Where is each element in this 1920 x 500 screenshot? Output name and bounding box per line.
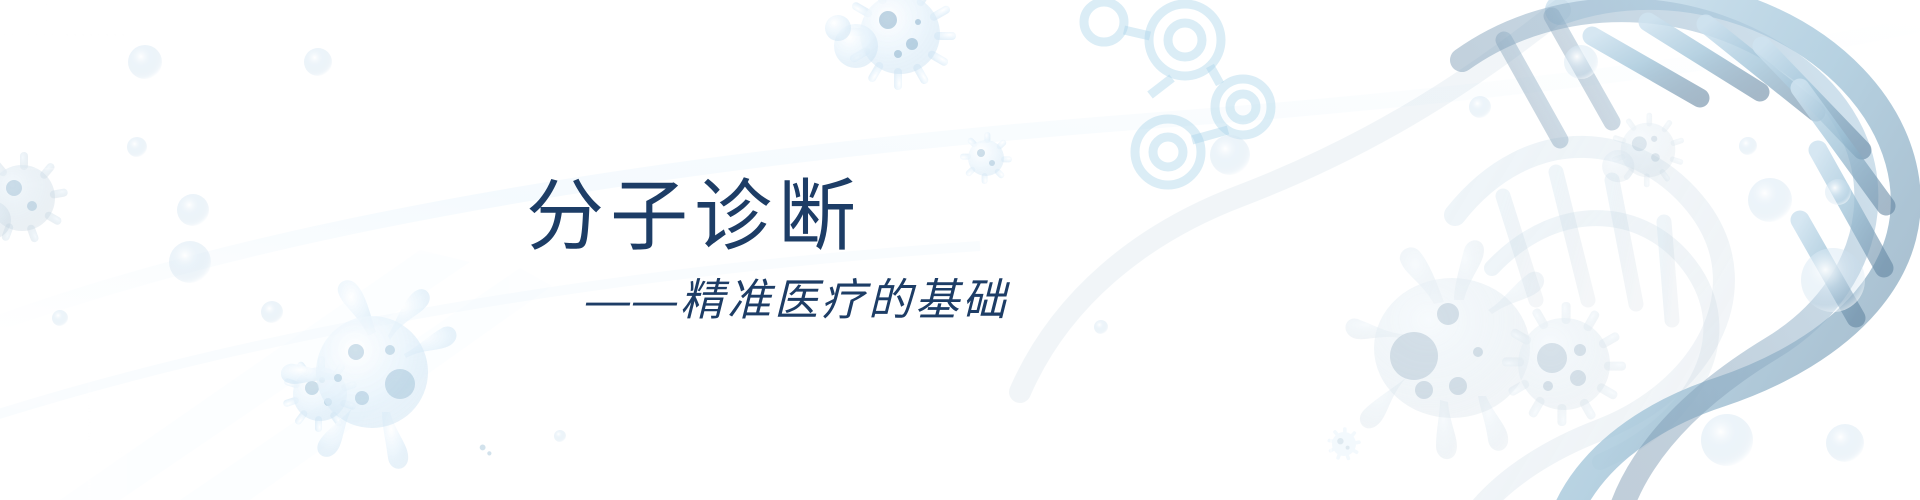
banner-hero: 分子诊断 ——精准医疗的基础 — [0, 0, 1920, 500]
page-subtitle: ——精准医疗的基础 — [520, 279, 1160, 323]
page-title: 分子诊断 — [526, 177, 1160, 255]
title-block: 分子诊断 ——精准医疗的基础 — [0, 0, 1920, 500]
